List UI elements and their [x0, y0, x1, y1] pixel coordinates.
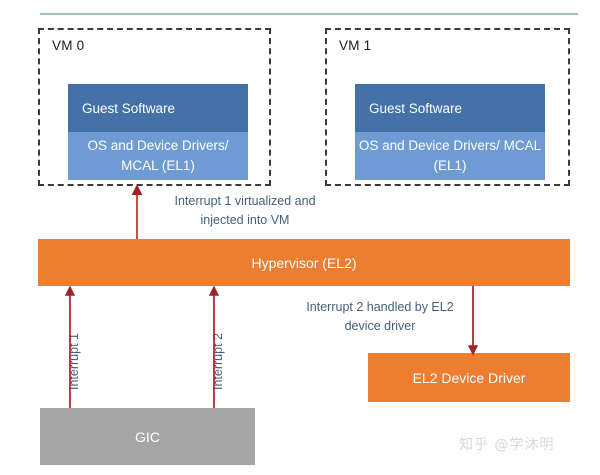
interrupt2-note: Interrupt 2 handled by EL2 device driver [275, 298, 485, 336]
vm0-os-drivers-label: OS and Device Drivers/ MCAL (EL1) [68, 136, 248, 175]
hypervisor-label: Hypervisor (EL2) [251, 255, 356, 271]
gic-label: GIC [135, 429, 160, 445]
vm0-guest-software-box: Guest Software [68, 84, 248, 132]
el2-device-driver-box: EL2 Device Driver [368, 353, 570, 402]
top-divider-rule [40, 13, 578, 15]
interrupt1-note: Interrupt 1 virtualized and injected int… [145, 192, 345, 230]
vm0-os-drivers-box: OS and Device Drivers/ MCAL (EL1) [68, 132, 248, 180]
vm1-os-drivers-label: OS and Device Drivers/ MCAL (EL1) [355, 136, 545, 175]
gic-box: GIC [40, 408, 255, 465]
vm0-guest-software-label: Guest Software [82, 101, 175, 116]
vm1-guest-software-label: Guest Software [369, 101, 462, 116]
diagram-canvas: VM 0 Guest Software OS and Device Driver… [0, 0, 600, 475]
el2-device-driver-label: EL2 Device Driver [413, 370, 526, 386]
vm1-guest-software-box: Guest Software [355, 84, 545, 132]
vm1-os-drivers-box: OS and Device Drivers/ MCAL (EL1) [355, 132, 545, 180]
hypervisor-bar: Hypervisor (EL2) [38, 239, 570, 286]
vm1-container: VM 1 Guest Software OS and Device Driver… [325, 28, 570, 186]
vm1-label: VM 1 [339, 38, 371, 53]
zhihu-watermark: 知乎 @学沐明 [459, 434, 554, 454]
vm0-label: VM 0 [52, 38, 84, 53]
vm0-container: VM 0 Guest Software OS and Device Driver… [38, 28, 271, 186]
